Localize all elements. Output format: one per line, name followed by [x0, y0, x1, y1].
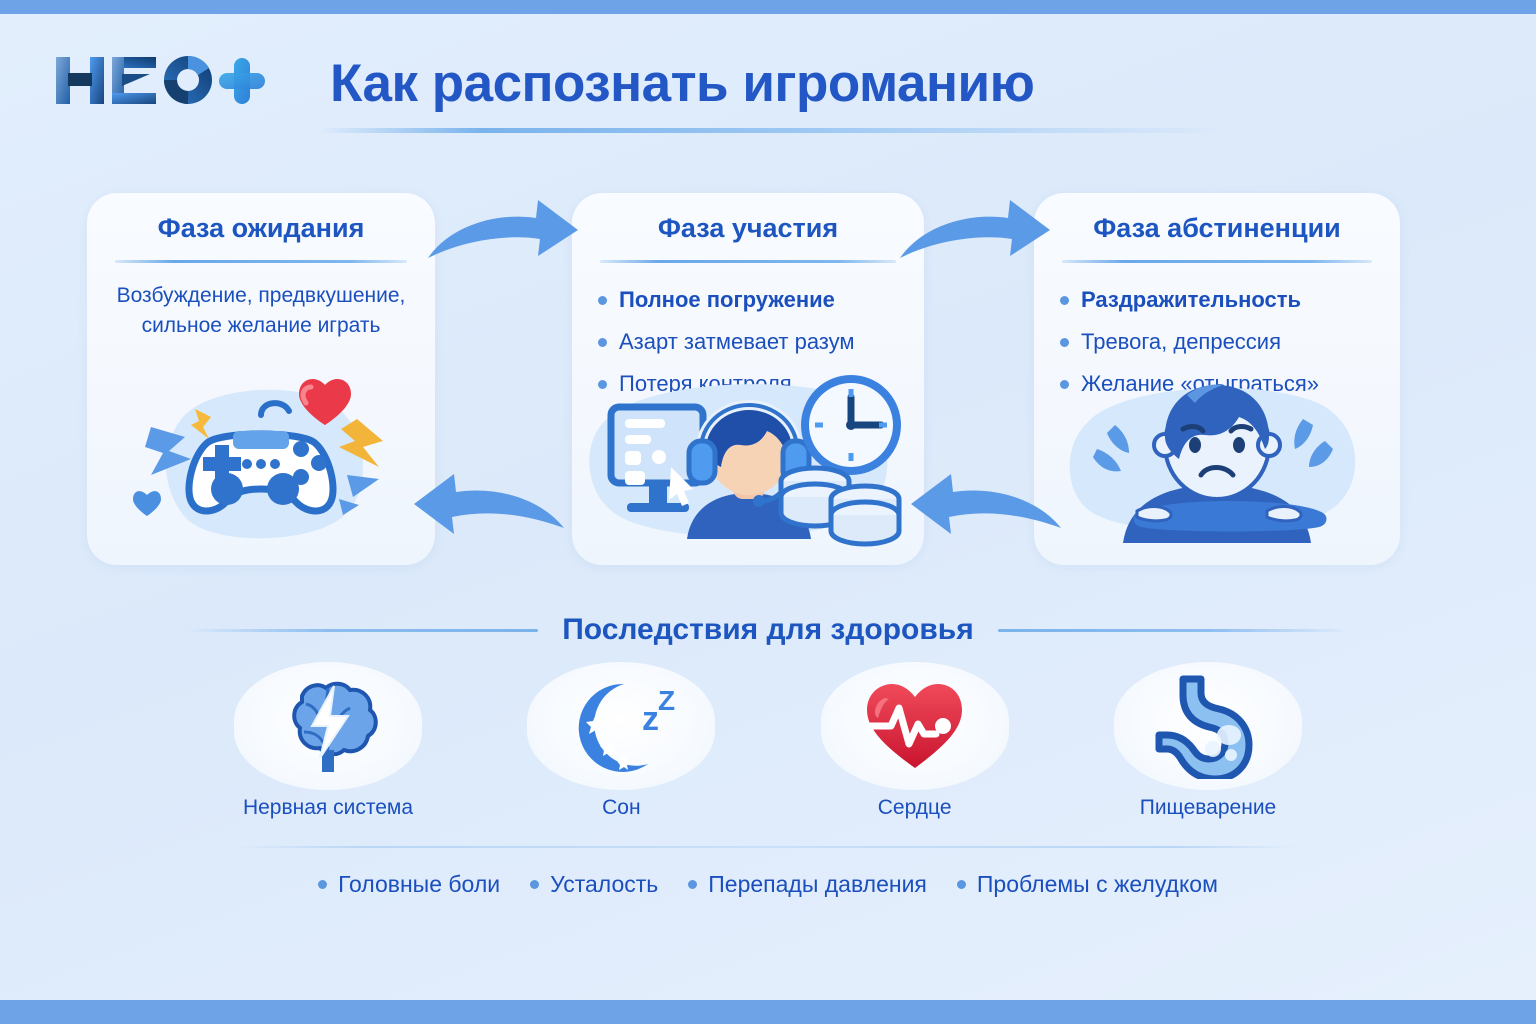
- icon-backdrop: [234, 662, 422, 790]
- bullet-dot: [598, 338, 607, 347]
- footer-divider: [236, 846, 1300, 848]
- health-item-label: Нервная система: [228, 796, 428, 820]
- infographic-canvas: Как распознать игроманию Фаза ожидания В…: [0, 0, 1536, 1024]
- arrow-back-icon: [408, 470, 568, 545]
- stomach-icon: [1153, 673, 1263, 779]
- card-divider: [600, 260, 896, 263]
- section-title: Последствия для здоровья: [562, 613, 974, 647]
- health-item-label: Сердце: [815, 796, 1015, 820]
- list-item: Азарт затмевает разум: [598, 321, 910, 363]
- phase-card-withdrawal[interactable]: Фаза абстиненции Раздражительность Трево…: [1034, 193, 1400, 565]
- arrow-forward-icon: [424, 198, 584, 273]
- list-item: Тревога, депрессия: [1060, 321, 1386, 363]
- bullet-dot: [957, 880, 966, 889]
- card-divider: [115, 260, 407, 263]
- heading-rule-right: [998, 629, 1350, 632]
- list-item: Головные боли: [318, 871, 500, 898]
- list-item: Раздражительность: [1060, 279, 1386, 321]
- bullet-dot: [598, 296, 607, 305]
- top-accent-strip: [0, 0, 1536, 14]
- health-item-label: Сон: [521, 796, 721, 820]
- icon-backdrop: z Z: [527, 662, 715, 790]
- svg-text:z: z: [642, 700, 659, 738]
- gamer-headset-clock-coins-illustration: [572, 371, 924, 561]
- heart-pulse-icon: [859, 676, 971, 776]
- list-item: Перепады давления: [688, 871, 927, 898]
- moon-zzz-icon: z Z: [562, 674, 680, 778]
- phase-card-expectation[interactable]: Фаза ожидания Возбуждение, предвкушение,…: [87, 193, 435, 565]
- icon-backdrop: [821, 662, 1009, 790]
- sad-person-illustration: [1034, 371, 1400, 561]
- health-item-sleep[interactable]: z Z Сон: [521, 662, 721, 834]
- title-underline: [318, 128, 1223, 133]
- bullet-dot: [1060, 338, 1069, 347]
- brain-lightning-icon: [272, 674, 384, 778]
- card-divider: [1062, 260, 1372, 263]
- icon-backdrop: [1114, 662, 1302, 790]
- phase-card-participation[interactable]: Фаза участия Полное погружение Азарт зат…: [572, 193, 924, 565]
- phase-title: Фаза участия: [572, 213, 924, 244]
- list-item: Усталость: [530, 871, 658, 898]
- list-item: Полное погружение: [598, 279, 910, 321]
- health-consequences-row: Нервная система z Z Сон: [228, 662, 1308, 834]
- phase-description: Возбуждение, предвкушение, сильное желан…: [101, 281, 421, 341]
- bullet-dot: [1060, 296, 1069, 305]
- page-title: Как распознать игроманию: [330, 48, 1230, 120]
- symptoms-list: Головные боли Усталость Перепады давлени…: [0, 862, 1536, 906]
- svg-text:Z: Z: [658, 685, 675, 716]
- phase-title: Фаза ожидания: [87, 213, 435, 244]
- health-item-digestion[interactable]: Пищеварение: [1108, 662, 1308, 834]
- brand-logo: [38, 42, 288, 114]
- arrow-back-icon: [905, 470, 1065, 545]
- phase-title: Фаза абстиненции: [1034, 213, 1400, 244]
- heading-rule-left: [186, 629, 538, 632]
- gamepad-hearts-illustration: [87, 371, 435, 561]
- bottom-accent-strip: [0, 1000, 1536, 1024]
- consequences-heading: Последствия для здоровья: [0, 608, 1536, 652]
- health-item-nervous-system[interactable]: Нервная система: [228, 662, 428, 834]
- arrow-forward-icon: [896, 198, 1056, 273]
- health-item-heart[interactable]: Сердце: [815, 662, 1015, 834]
- bullet-dot: [530, 880, 539, 889]
- bullet-dot: [688, 880, 697, 889]
- list-item: Проблемы с желудком: [957, 871, 1218, 898]
- bullet-dot: [318, 880, 327, 889]
- health-item-label: Пищеварение: [1108, 796, 1308, 820]
